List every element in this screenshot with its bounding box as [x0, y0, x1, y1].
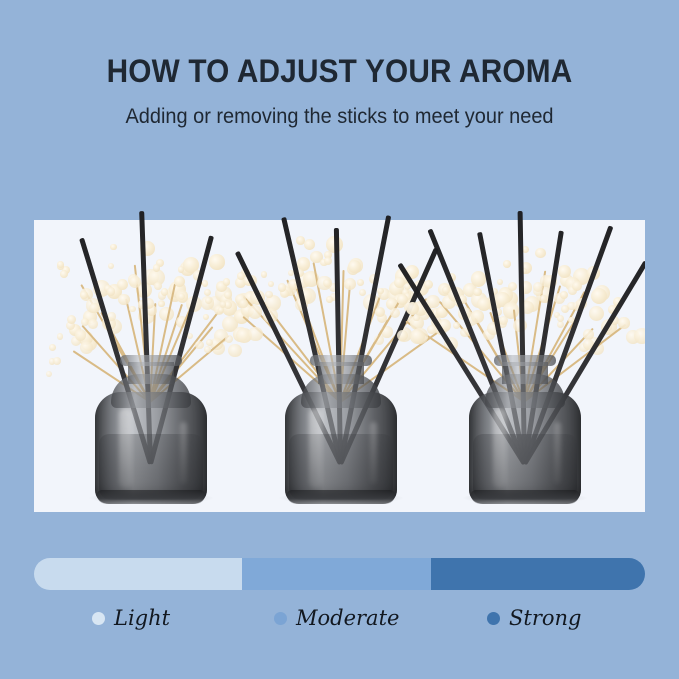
legend-dot-icon	[92, 612, 105, 625]
product-photo-panel	[34, 220, 645, 512]
header: HOW TO ADJUST YOUR AROMA Adding or remov…	[0, 0, 679, 128]
legend-item-label: Strong	[509, 608, 581, 629]
legend-item-strong: Strong	[487, 608, 581, 629]
intensity-segment-moderate[interactable]	[242, 558, 431, 590]
page-title: HOW TO ADJUST YOUR AROMA	[24, 0, 655, 89]
legend-item-moderate: Moderate	[274, 608, 399, 629]
intensity-bar[interactable]	[34, 558, 645, 590]
legend-dot-icon	[487, 612, 500, 625]
legend-dot-icon	[274, 612, 287, 625]
aroma-infographic: HOW TO ADJUST YOUR AROMA Adding or remov…	[0, 0, 679, 679]
legend-item-label: Moderate	[296, 608, 399, 629]
intensity-segment-light[interactable]	[34, 558, 242, 590]
legend-item-label: Light	[114, 608, 170, 629]
intensity-segment-strong[interactable]	[431, 558, 645, 590]
legend-item-light: Light	[92, 608, 170, 629]
intensity-legend: Light Moderate Strong	[34, 608, 645, 646]
page-subtitle: Adding or removing the sticks to meet yo…	[17, 89, 662, 128]
